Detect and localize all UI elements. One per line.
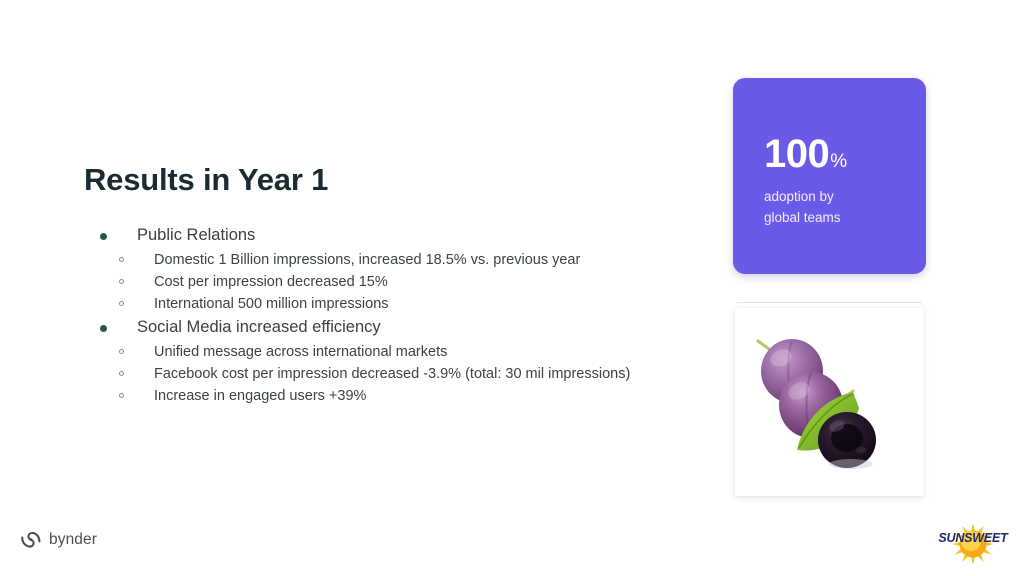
sub-bullet-circle-icon — [119, 349, 124, 354]
stat-value: 100 — [764, 134, 829, 174]
sub-bullet-label: Cost per impression decreased 15% — [154, 274, 388, 290]
bullet-label: Public Relations — [137, 226, 255, 244]
list-item: Social Media increased efficiency — [84, 315, 644, 340]
list-item: Facebook cost per impression decreased -… — [84, 363, 644, 385]
image-card — [735, 308, 924, 496]
sunsweet-wordmark: SUNSWEET — [938, 531, 1009, 545]
bullet-dot-icon — [100, 233, 107, 240]
sub-bullet-circle-icon — [119, 371, 124, 376]
stat-caption-line-2: global teams — [764, 208, 926, 229]
stat-card: 100% adoption by global teams — [733, 78, 926, 274]
sub-bullet-circle-icon — [119, 279, 124, 284]
sub-bullet-circle-icon — [119, 393, 124, 398]
plum-fruit-image — [735, 308, 924, 496]
list-item: Increase in engaged users +39% — [84, 385, 644, 407]
bullet-label: Social Media increased efficiency — [137, 318, 381, 336]
sub-bullet-label: International 500 million impressions — [154, 296, 389, 312]
bynder-wordmark: bynder — [49, 531, 97, 549]
list-item: Cost per impression decreased 15% — [84, 271, 644, 293]
bynder-swoosh-icon — [20, 531, 42, 549]
stat-caption: adoption by global teams — [764, 187, 926, 229]
page-title: Results in Year 1 — [84, 163, 644, 197]
sub-bullet-label: Increase in engaged users +39% — [154, 388, 366, 404]
bullet-dot-icon — [100, 325, 107, 332]
sub-bullet-circle-icon — [119, 257, 124, 262]
sub-bullet-list: Domestic 1 Billion impressions, increase… — [84, 249, 644, 315]
divider — [737, 302, 922, 303]
sub-bullet-label: Unified message across international mar… — [154, 344, 447, 360]
bynder-logo: bynder — [20, 531, 97, 549]
bullet-list: Public Relations Domestic 1 Billion impr… — [84, 223, 644, 407]
sub-bullet-label: Facebook cost per impression decreased -… — [154, 366, 630, 382]
sub-bullet-circle-icon — [119, 301, 124, 306]
stat-unit: % — [830, 152, 847, 171]
slide-canvas: Results in Year 1 Public Relations Domes… — [0, 0, 1024, 576]
slide-content: Results in Year 1 Public Relations Domes… — [84, 163, 644, 407]
stat-caption-line-1: adoption by — [764, 187, 926, 208]
stat-value-row: 100% — [764, 134, 926, 174]
sub-bullet-list: Unified message across international mar… — [84, 341, 644, 407]
sunsweet-sunburst-logo: SUNSWEET — [932, 521, 1014, 566]
list-item: Domestic 1 Billion impressions, increase… — [84, 249, 644, 271]
list-item: Public Relations — [84, 223, 644, 248]
list-item: Unified message across international mar… — [84, 341, 644, 363]
list-item: International 500 million impressions — [84, 293, 644, 315]
sub-bullet-label: Domestic 1 Billion impressions, increase… — [154, 252, 580, 268]
